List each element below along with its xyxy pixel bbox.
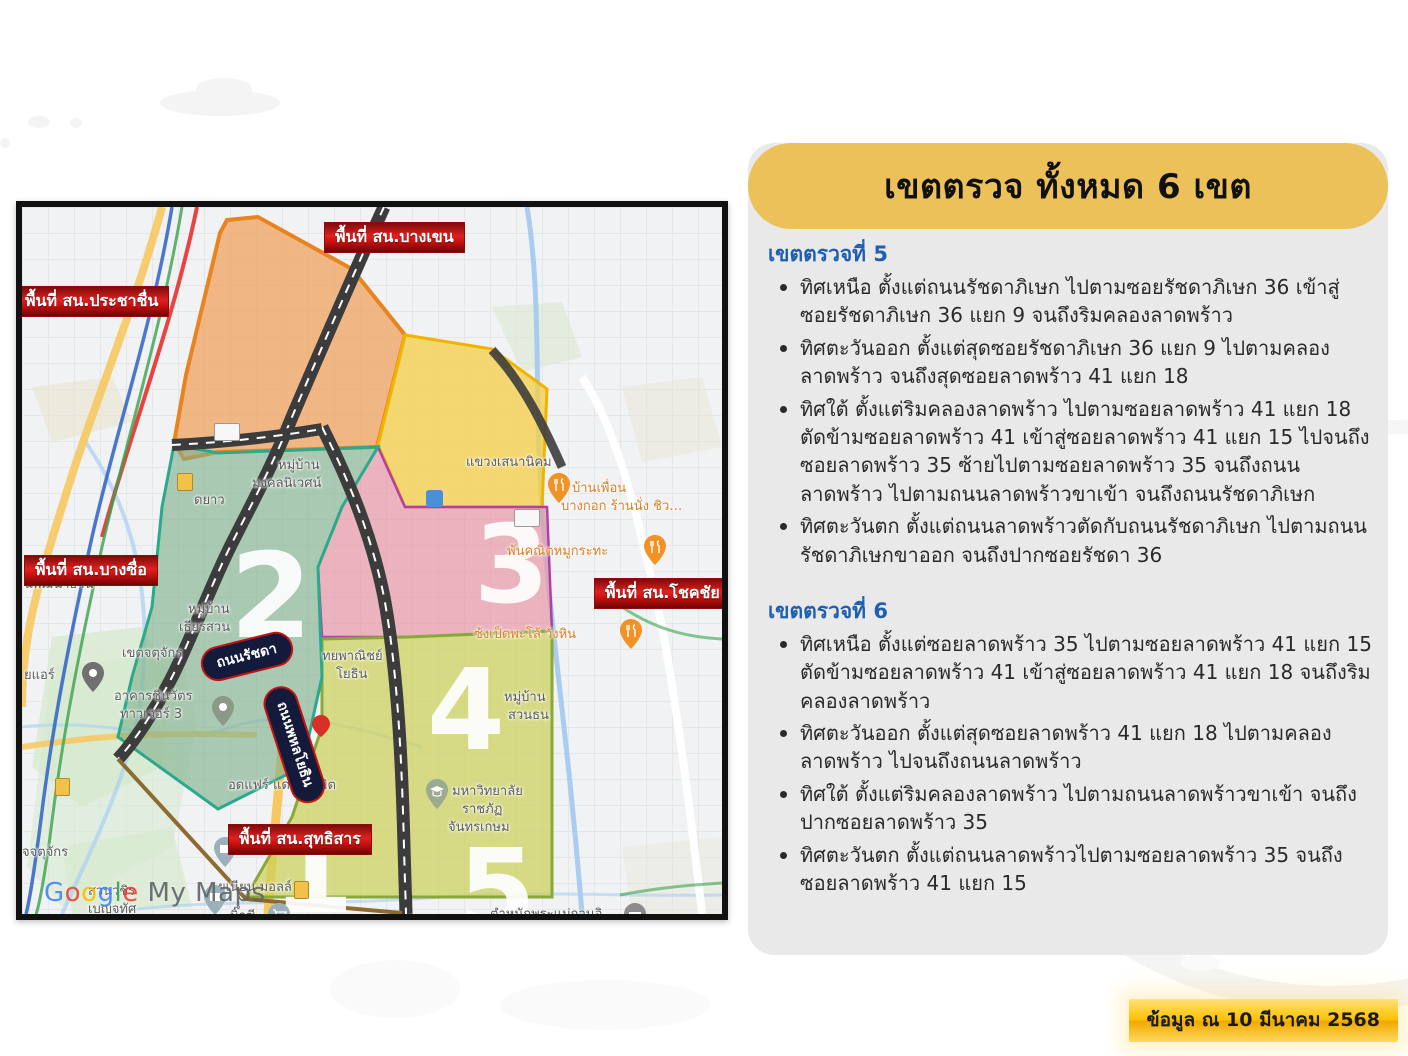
list-item: ทิศตะวันตก ตั้งแต่ถนนลาดพร้าวตัดกับถนนรั…: [798, 512, 1376, 569]
bullet-list: ทิศเหนือ ตั้งแต่ซอยลาดพร้าว 35 ไปตามซอยล…: [768, 630, 1376, 898]
map-place-label: มงคลนิเวศน์: [252, 477, 321, 492]
station-label-bangsue: พื้นที่ สน.บางซื่อ: [24, 555, 158, 586]
bullet-list: ทิศเหนือ ตั้งแต่ถนนรัชดาภิเษก ไปตามซอยรั…: [768, 273, 1376, 569]
section-heading: เขตตรวจที่ 5: [768, 238, 1376, 271]
list-item: ทิศใต้ ตั้งแต่ริมคลองลาดพร้าว ไปตามซอยลา…: [798, 395, 1376, 509]
map-place-label: จันทรเกษม: [448, 821, 510, 836]
university-pin-icon[interactable]: [426, 779, 448, 809]
route-shield-icon: [294, 881, 309, 899]
map-place-label: หมู่บ้าน: [278, 459, 320, 474]
map-place-label: ตำหนักพระแม่กวนอิ: [490, 908, 602, 914]
map-place-label: จจตุจักร: [22, 846, 68, 861]
google-my-maps-attribution: Google My Maps: [44, 878, 266, 908]
list-item: ทิศตะวันตก ตั้งแต่ถนนลาดพร้าวไปตามซอยลาด…: [798, 841, 1376, 898]
route-shield-icon: [55, 778, 70, 796]
map-place-label: แขวงเสนานิคม: [466, 456, 552, 471]
section-heading: เขตตรวจที่ 6: [768, 595, 1376, 628]
station-label-prachachuen: พื้นที่ สน.ประชาชื่น: [22, 286, 169, 317]
list-item: ทิศใต้ ตั้งแต่ริมคลองลาดพร้าว ไปตามถนนลา…: [798, 780, 1376, 837]
my-maps-text: My Maps: [148, 878, 266, 908]
map-canvas[interactable]: 2 3 4 1 5 6 แขวงเสนานิคม หมู่บ้าน มงคลนิ…: [22, 207, 722, 914]
map-place-label: ยแอร์: [24, 669, 55, 684]
map-place-label: มหาวิทยาลัย: [452, 785, 523, 800]
route-shield-icon: [177, 473, 193, 491]
supermarket-pin-icon[interactable]: [268, 903, 290, 914]
map-place-label: บิ๊กซี: [230, 910, 255, 914]
panel-content: เขตตรวจที่ 5 ทิศเหนือ ตั้งแต่ถนนรัชดาภิเ…: [768, 238, 1376, 938]
page-title: เขตตรวจ ทั้งหมด 6 เขต: [884, 159, 1252, 213]
place-pin-icon[interactable]: [82, 662, 104, 692]
map-place-label: โยธิน: [336, 668, 367, 683]
map-place-label: ทาวเวอร์ 3: [120, 708, 182, 723]
map-place-label: อาคารชินวัตร: [114, 690, 193, 705]
transit-icon[interactable]: [426, 490, 443, 507]
map-place-label: เธียรสวน: [179, 621, 230, 636]
list-item: ทิศตะวันออก ตั้งแต่สุดซอยรัชดาภิเษก 36 แ…: [798, 334, 1376, 391]
route-shield-icon: [214, 423, 240, 441]
section-gap: [768, 573, 1376, 595]
map-place-label: ซ้งเป็ดพะโล้ วังหิน: [474, 628, 576, 643]
restaurant-pin-icon[interactable]: [644, 535, 666, 565]
map-place-label: เขตจตุจักร: [122, 647, 182, 662]
place-pin-icon[interactable]: [212, 696, 234, 726]
list-item: ทิศเหนือ ตั้งแต่ถนนรัชดาภิเษก ไปตามซอยรั…: [798, 273, 1376, 330]
list-item: ทิศตะวันออก ตั้งแต่สุดซอยลาดพร้าว 41 แยก…: [798, 719, 1376, 776]
map-place-label: หมู่บ้าน: [188, 603, 230, 618]
map-place-label: พันคณิตหมูกระทะ: [507, 545, 608, 560]
map-place-label: หมู่บ้าน: [504, 691, 546, 706]
map-place-label: ทยพาณิชย์: [322, 650, 383, 665]
map-place-label: ดยาว: [194, 494, 225, 509]
zone-number-3: 3: [474, 512, 549, 620]
restaurant-pin-icon[interactable]: [548, 473, 570, 503]
route-shield-icon: [514, 509, 540, 527]
map-place-label: ราชภัฏ: [462, 803, 502, 818]
station-label-sutthisan: พื้นที่ สน.สุทธิสาร: [228, 824, 372, 855]
section-zone-6: เขตตรวจที่ 6 ทิศเหนือ ตั้งแต่ซอยลาดพร้าว…: [768, 595, 1376, 898]
hospital-marker-icon[interactable]: [312, 715, 330, 737]
zone-number-5: 5: [458, 835, 536, 914]
map-place-label: บางกอก ร้านนั่ง ชิว…: [561, 500, 682, 515]
data-as-of-badge: ข้อมูล ณ 10 มีนาคม 2568: [1129, 999, 1398, 1042]
list-item: ทิศเหนือ ตั้งแต่ซอยลาดพร้าว 35 ไปตามซอยล…: [798, 630, 1376, 715]
restaurant-pin-icon[interactable]: [620, 619, 642, 649]
panel-title-bar: เขตตรวจ ทั้งหมด 6 เขต: [748, 143, 1388, 229]
map-place-label: บ้านเพื่อน: [572, 482, 626, 497]
station-label-chokchai: พื้นที่ สน.โชคชัย: [594, 578, 722, 609]
map-place-label: สวนธน: [508, 709, 549, 724]
museum-pin-icon[interactable]: [624, 903, 646, 914]
station-label-bangkhen: พื้นที่ สน.บางเขน: [324, 222, 465, 253]
zone-number-4: 4: [427, 655, 505, 767]
section-zone-5: เขตตรวจที่ 5 ทิศเหนือ ตั้งแต่ถนนรัชดาภิเ…: [768, 238, 1376, 569]
map-panel[interactable]: 2 3 4 1 5 6 แขวงเสนานิคม หมู่บ้าน มงคลนิ…: [16, 201, 728, 920]
